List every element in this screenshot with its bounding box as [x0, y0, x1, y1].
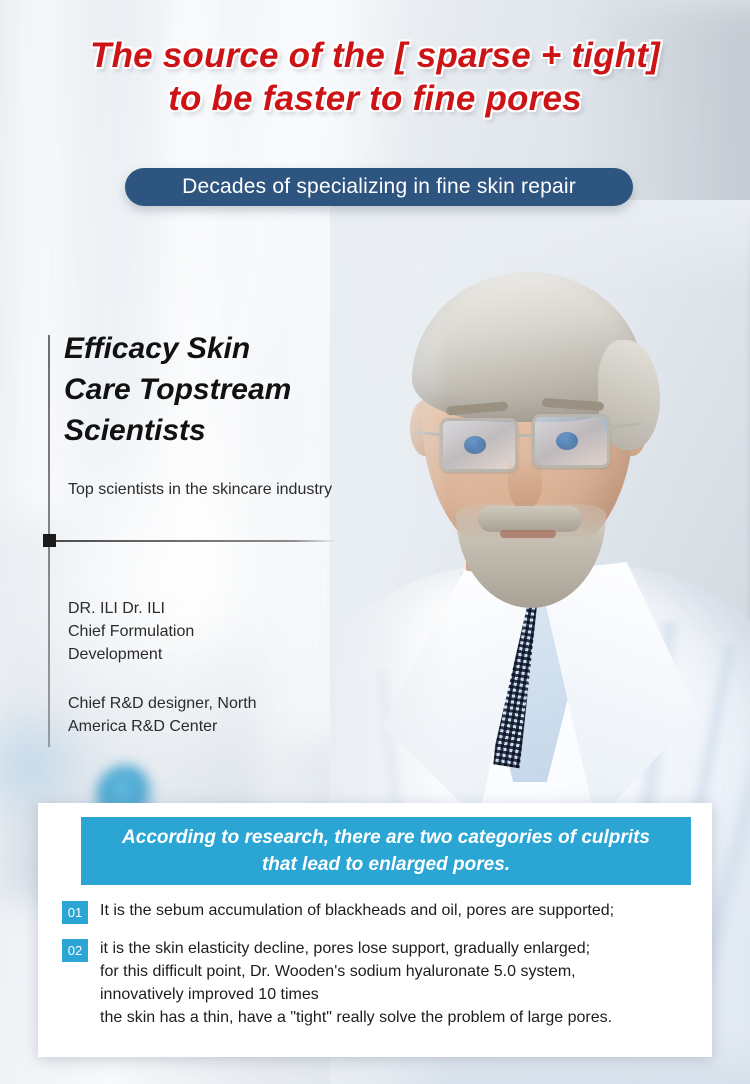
research-banner-label: According to research, there are two cat…	[122, 824, 650, 878]
list-item: 01 It is the sebum accumulation of black…	[62, 899, 614, 924]
page-title: The source of the [ sparse + tight] to b…	[0, 34, 750, 120]
mustache	[478, 506, 582, 532]
list-item-text: It is the sebum accumulation of blackhea…	[100, 899, 614, 922]
eyeglasses-lens-right	[532, 414, 610, 468]
credit-role: Chief R&D designer, North America R&D Ce…	[68, 692, 368, 738]
mouth	[500, 530, 556, 538]
credit-name: DR. ILI Dr. ILI Chief Formulation Develo…	[68, 597, 368, 666]
list-item-badge: 02	[62, 939, 88, 962]
portrait-top-fade	[330, 200, 750, 290]
nose	[508, 458, 542, 510]
section-heading: Efficacy Skin Care Topstream Scientists	[64, 328, 364, 451]
square-marker	[43, 534, 56, 547]
research-card: According to research, there are two cat…	[38, 803, 712, 1057]
eyeglasses-lens-left	[440, 418, 518, 472]
section-subheading: Top scientists in the skincare industry	[68, 481, 388, 499]
research-banner: According to research, there are two cat…	[81, 817, 691, 885]
subtitle-pill: Decades of specializing in fine skin rep…	[125, 168, 633, 206]
subtitle-pill-label: Decades of specializing in fine skin rep…	[182, 175, 576, 199]
list-item: 02 it is the skin elasticity decline, po…	[62, 937, 612, 1029]
promo-poster: The source of the [ sparse + tight] to b…	[0, 0, 750, 1084]
eyeglasses-bridge	[518, 434, 534, 437]
list-item-text: it is the skin elasticity decline, pores…	[100, 937, 612, 1029]
list-item-badge: 01	[62, 901, 88, 924]
horizontal-rule	[44, 540, 338, 542]
